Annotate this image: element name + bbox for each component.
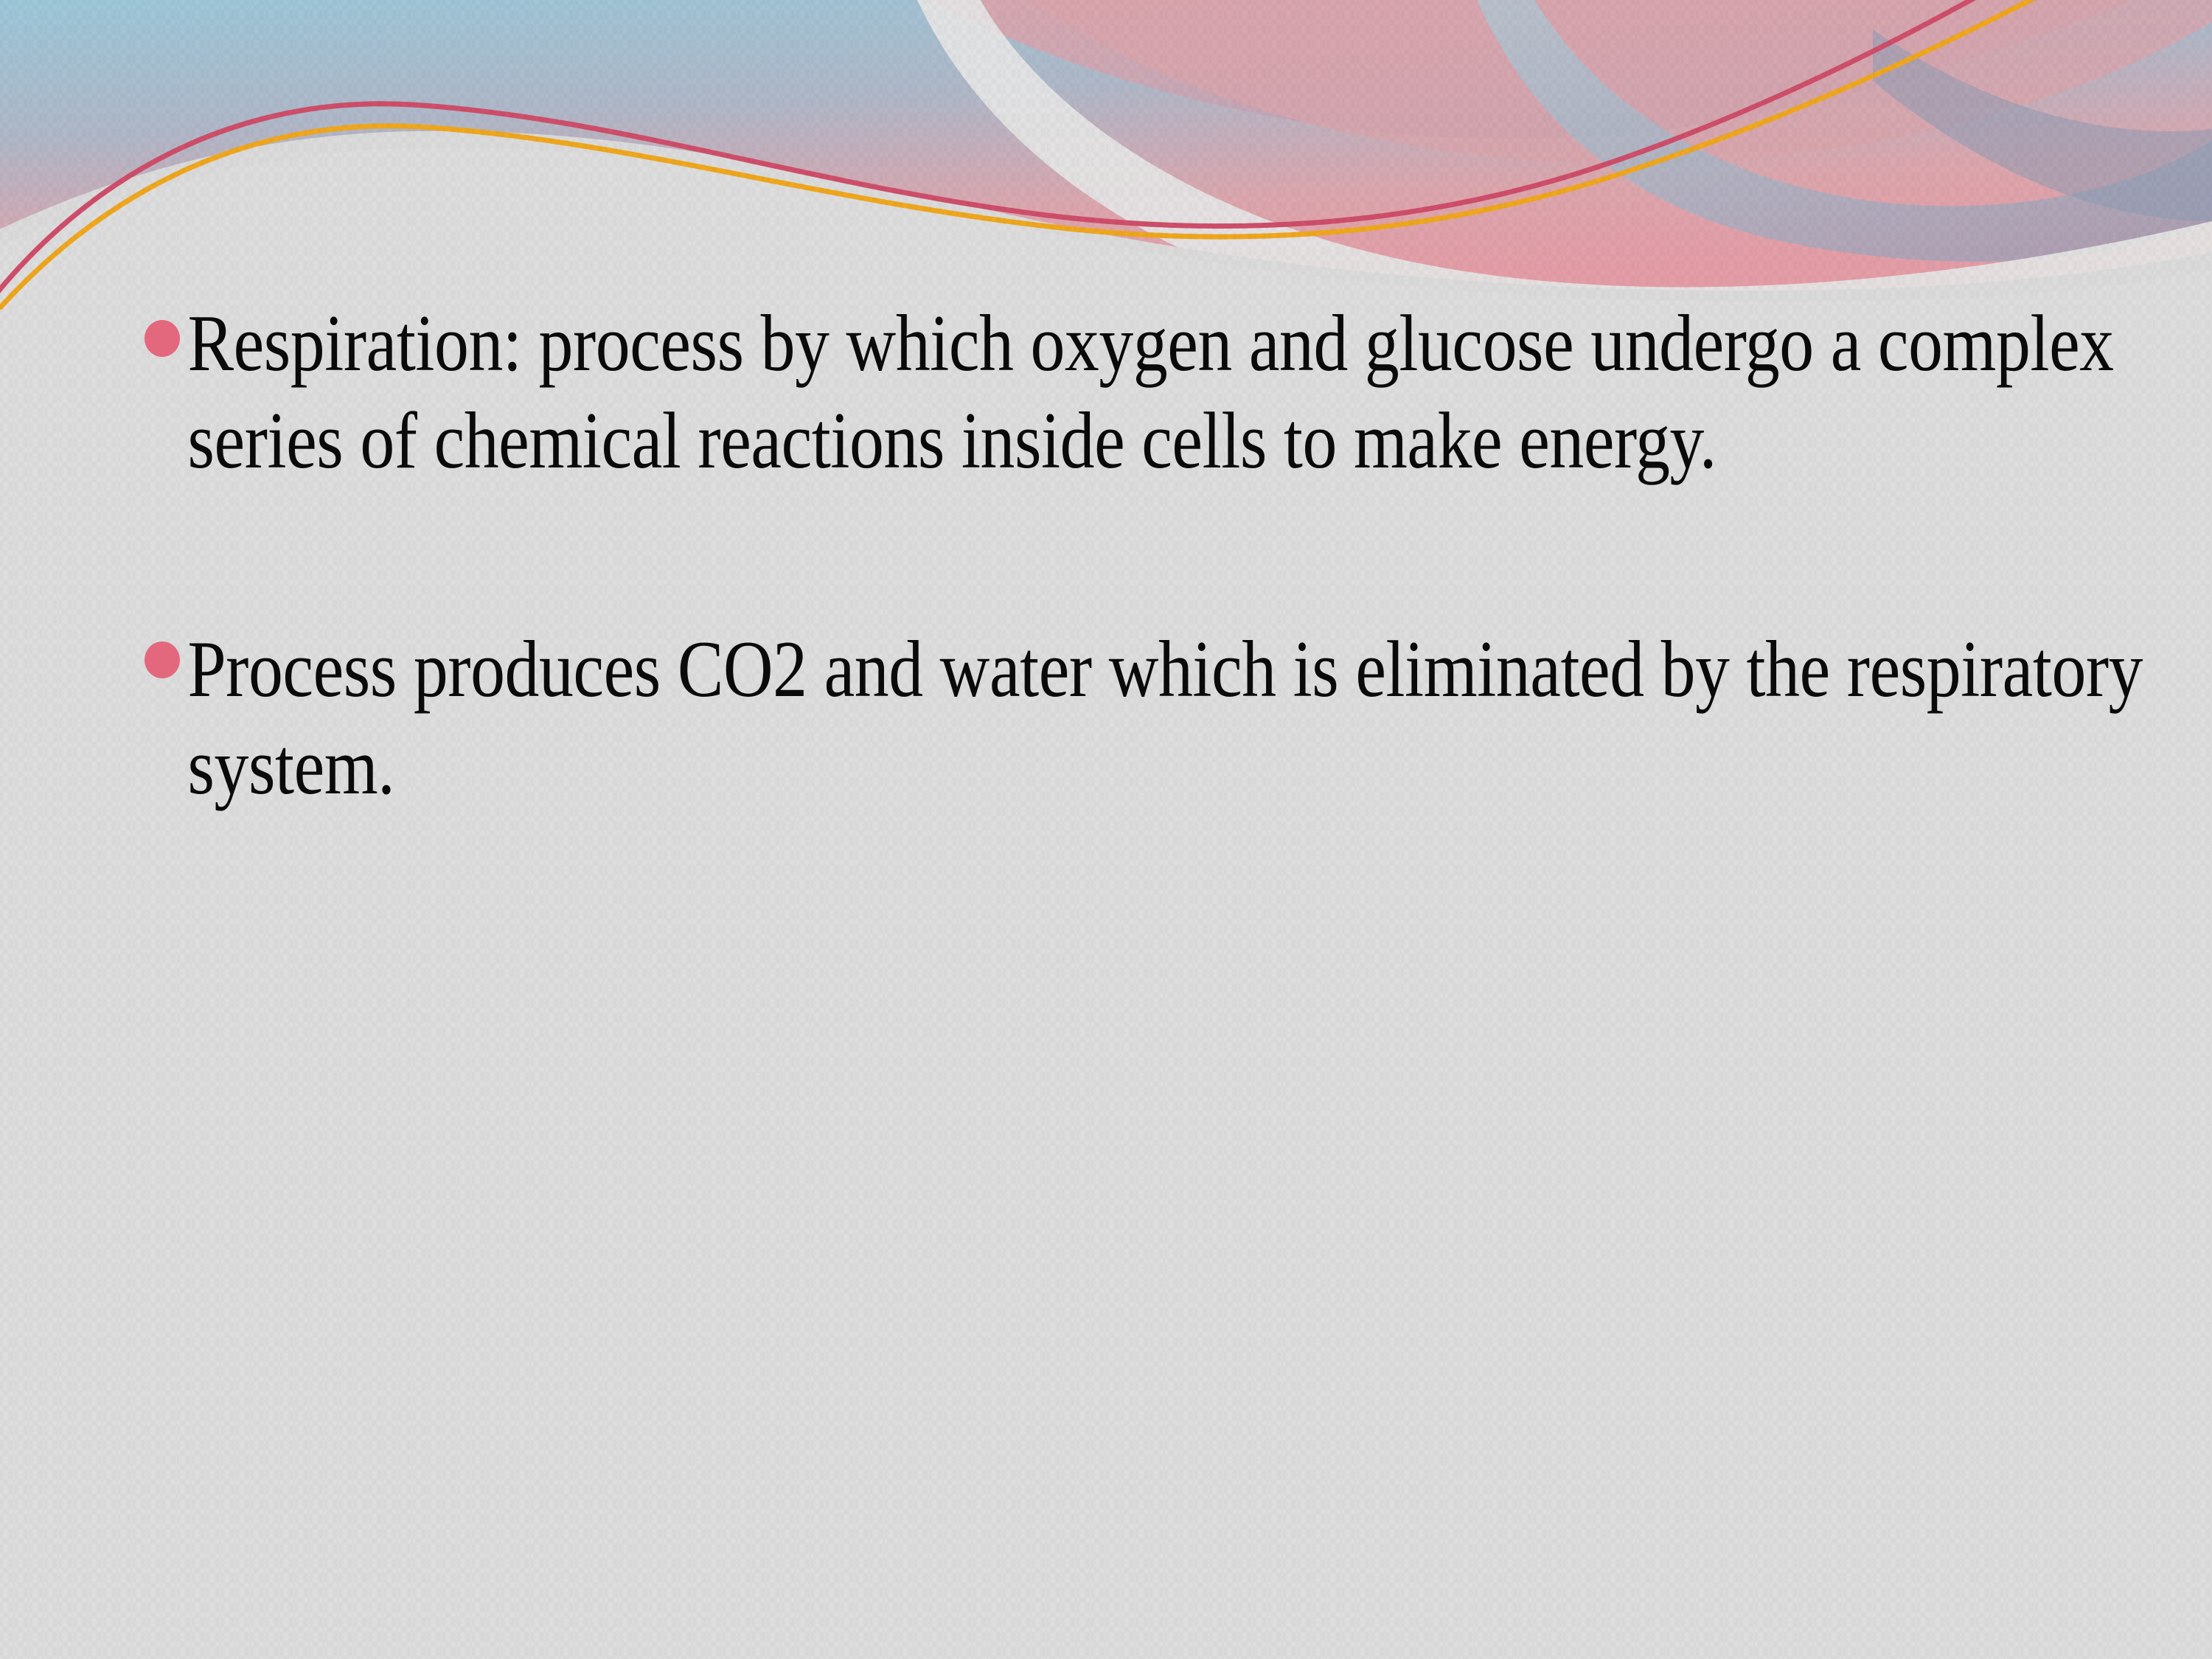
bullet-text: Process produces CO2 and water which is …: [145, 621, 2212, 815]
slide-body-content: Respiration: process by which oxygen and…: [145, 295, 2165, 815]
presentation-slide: Respiration: process by which oxygen and…: [0, 0, 2212, 1659]
decorative-wave-banner: [0, 0, 2212, 310]
bullet-item: Respiration: process by which oxygen and…: [145, 295, 2165, 490]
bullet-text: Respiration: process by which oxygen and…: [145, 295, 2203, 490]
bullet-item: Process produces CO2 and water which is …: [145, 621, 2165, 815]
